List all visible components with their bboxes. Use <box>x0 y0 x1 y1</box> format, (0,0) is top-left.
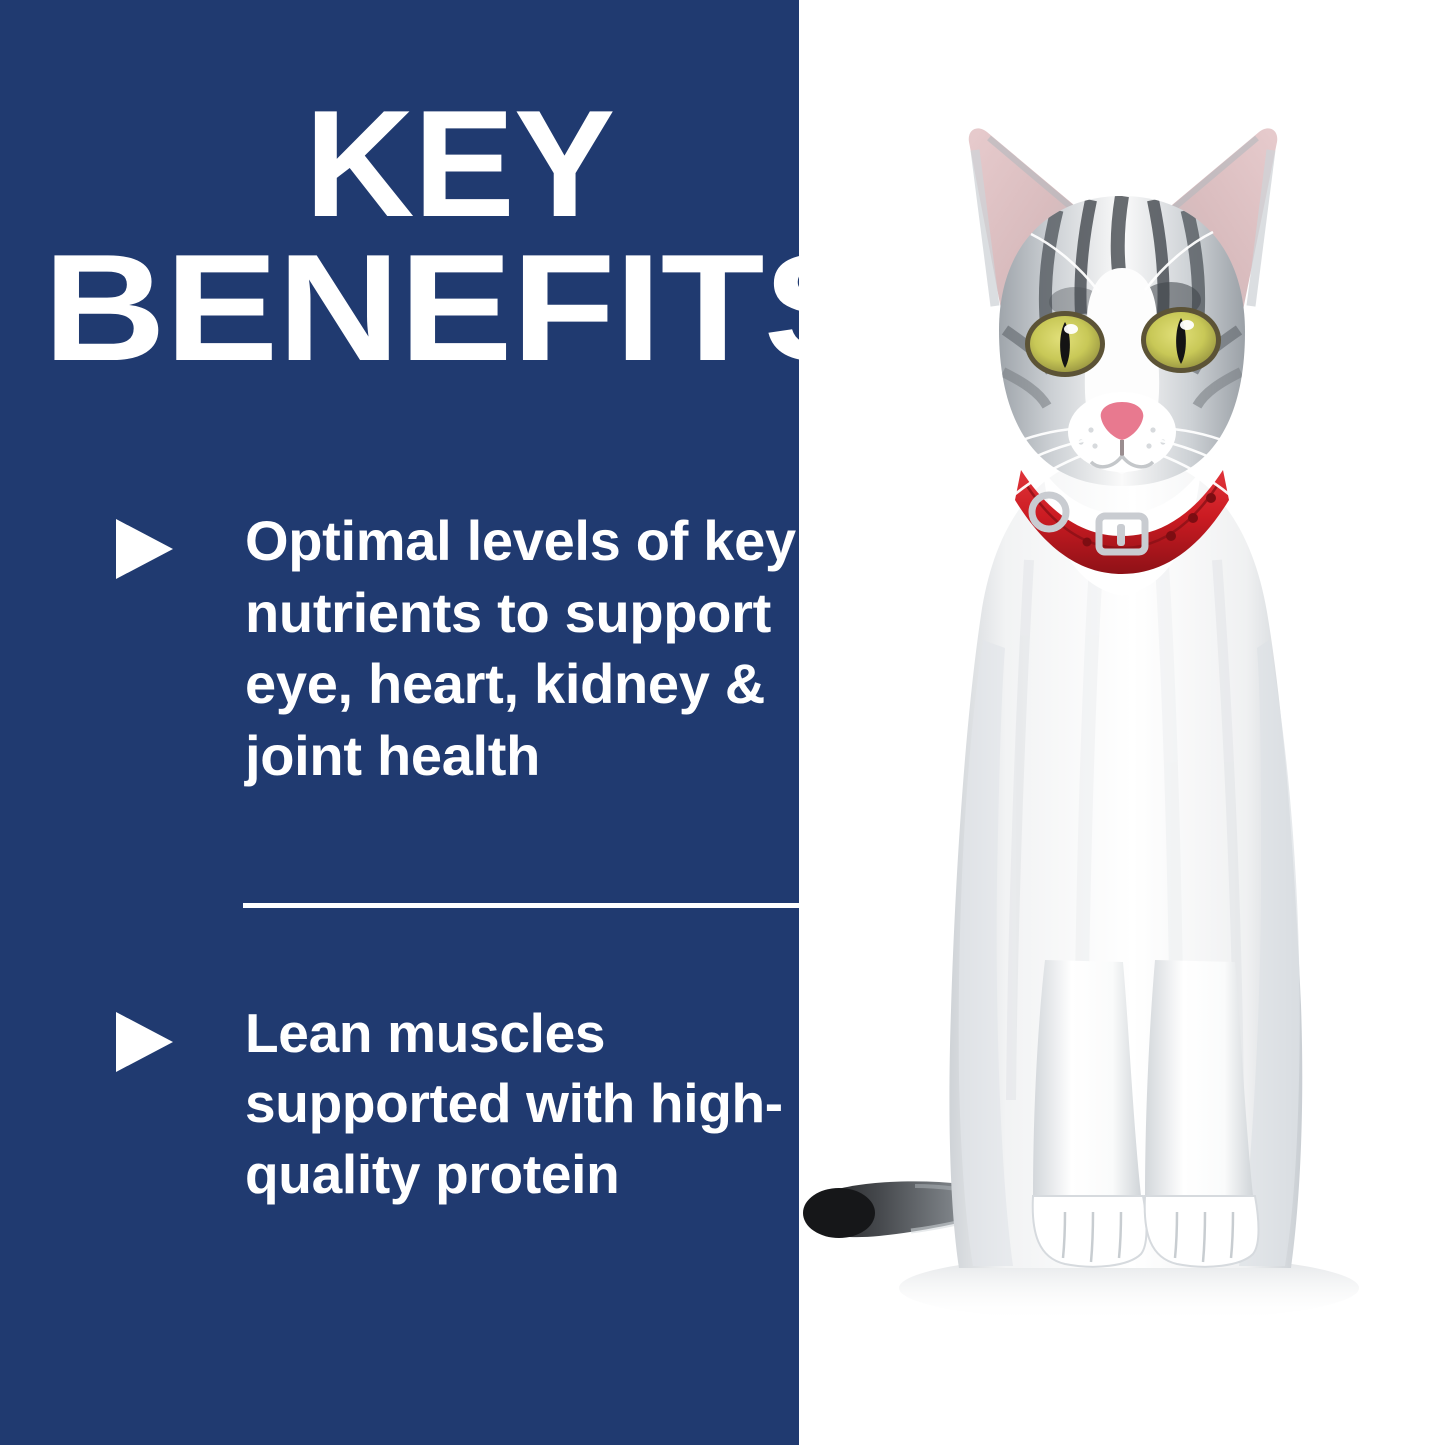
page-title: KEY BENEFITS <box>0 92 919 381</box>
page-title-line-1: KEY <box>0 92 919 236</box>
benefit-item-2: Lean muscles supported with high-quality… <box>116 998 876 1209</box>
cat-eye-right <box>1141 307 1221 373</box>
triangle-right-icon <box>116 1012 173 1072</box>
benefits-divider <box>243 903 835 908</box>
cat-photo <box>799 0 1445 1445</box>
benefit-item-1: Optimal levels of key nutrients to suppo… <box>116 505 876 792</box>
key-benefits-banner: KEY BENEFITS Optimal levels of key nutri… <box>0 0 1445 1445</box>
benefit-item-1-label: Optimal levels of key nutrients to suppo… <box>245 505 876 792</box>
benefits-panel: KEY BENEFITS Optimal levels of key nutri… <box>0 0 919 1445</box>
cat-eye-left <box>1025 311 1105 377</box>
benefit-item-2-label: Lean muscles supported with high-quality… <box>245 998 876 1209</box>
triangle-right-icon <box>116 519 173 579</box>
cat-photo-area <box>919 0 1445 1445</box>
